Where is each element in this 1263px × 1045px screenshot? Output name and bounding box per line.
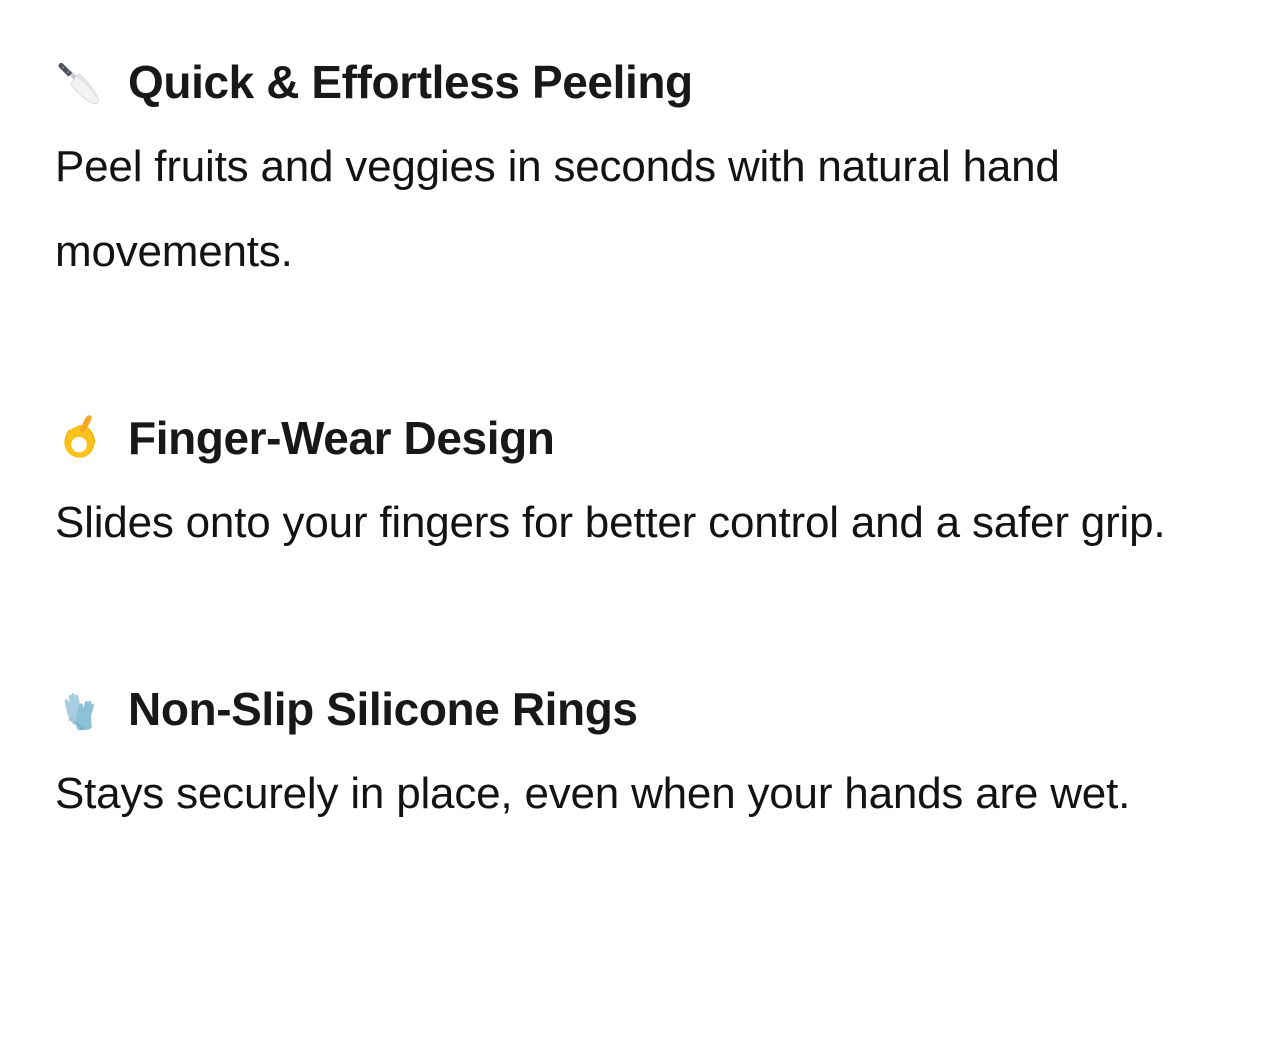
feature-heading-label: Finger-Wear Design [128,413,554,465]
feature-block-peeling: Quick & Effortless Peeling Peel fruits a… [55,56,1205,294]
ok-hand-icon [55,413,109,467]
feature-body-silicone-rings: Stays securely in place, even when your … [55,751,1205,836]
feature-heading-finger-wear: Finger-Wear Design [55,412,1205,466]
kitchen-knife-icon [55,57,109,111]
feature-body-peeling: Peel fruits and veggies in seconds with … [55,124,1205,294]
feature-body-finger-wear: Slides onto your fingers for better cont… [55,480,1205,565]
feature-block-silicone-rings: Non-Slip Silicone Rings Stays securely i… [55,683,1205,836]
feature-heading-silicone-rings: Non-Slip Silicone Rings [55,683,1205,737]
feature-list-page: Quick & Effortless Peeling Peel fruits a… [0,0,1263,1045]
feature-block-finger-wear: Finger-Wear Design Slides onto your fing… [55,412,1205,565]
feature-heading-label: Quick & Effortless Peeling [128,57,693,109]
feature-heading-label: Non-Slip Silicone Rings [128,684,638,736]
gloves-icon [55,684,109,738]
feature-heading-peeling: Quick & Effortless Peeling [55,56,1205,110]
